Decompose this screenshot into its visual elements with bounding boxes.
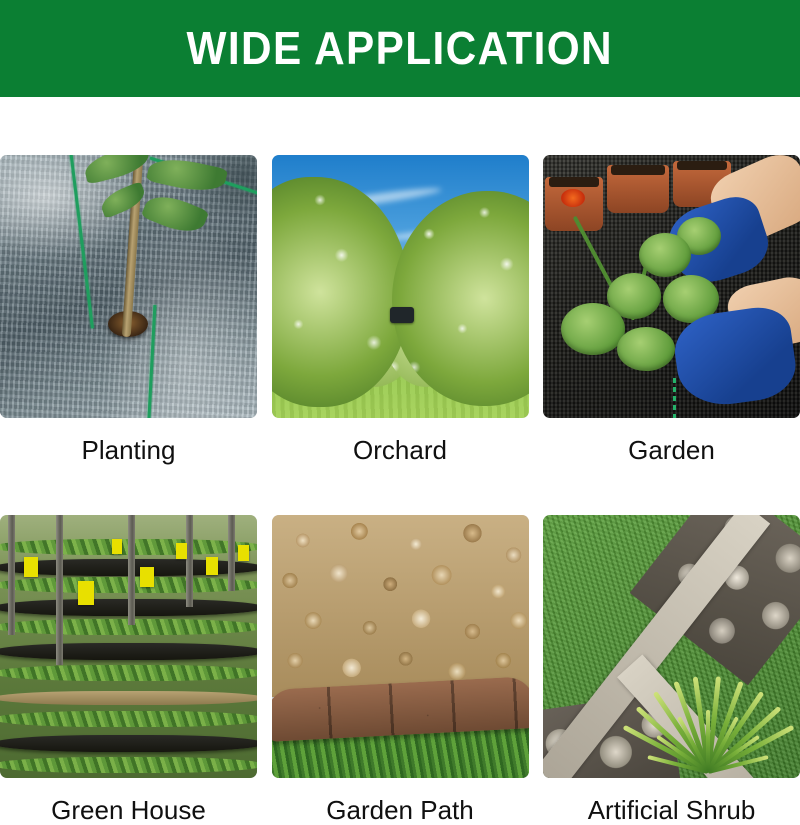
- yellow-sticky-trap: [176, 543, 187, 559]
- planting-scene: [0, 155, 257, 418]
- yellow-sticky-trap: [78, 581, 94, 605]
- gallery-cell-garden[interactable]: Garden: [543, 155, 800, 463]
- support-post: [186, 515, 193, 607]
- crop-row: [0, 757, 257, 773]
- pot-soil: [677, 161, 727, 170]
- spiky-shrub: [620, 588, 800, 778]
- geranium-leaf: [617, 327, 675, 371]
- artificial-shrub-caption: Artificial Shrub: [543, 797, 800, 823]
- support-post: [56, 515, 63, 665]
- gallery-cell-orchard[interactable]: Orchard: [272, 155, 529, 463]
- mulch-film: [0, 643, 257, 660]
- planting-caption: Planting: [0, 437, 257, 463]
- planting-image[interactable]: [0, 155, 257, 418]
- yellow-sticky-trap: [112, 539, 122, 554]
- green-house-scene: [0, 515, 257, 778]
- mulch-film: [0, 735, 257, 752]
- gallery-row: Planting Orchard: [0, 155, 800, 463]
- orchard-vehicle: [390, 307, 414, 323]
- garden-path-caption: Garden Path: [272, 797, 529, 823]
- header-banner: WIDE APPLICATION: [0, 0, 800, 97]
- gallery-cell-garden-path[interactable]: Garden Path: [272, 515, 529, 823]
- yellow-sticky-trap: [206, 557, 218, 575]
- orchard-image[interactable]: [272, 155, 529, 418]
- gallery-cell-artificial-shrub[interactable]: Artificial Shrub: [543, 515, 800, 823]
- garden-image[interactable]: [543, 155, 800, 418]
- application-gallery: Planting Orchard: [0, 155, 800, 823]
- support-post: [8, 515, 15, 635]
- page-title: WIDE APPLICATION: [187, 25, 613, 71]
- yellow-sticky-trap: [238, 545, 249, 561]
- yellow-sticky-trap: [24, 557, 38, 577]
- garden-path-scene: [272, 515, 529, 778]
- garden-caption: Garden: [543, 437, 800, 463]
- pot-soil: [549, 177, 599, 187]
- support-post: [128, 515, 135, 625]
- crop-row: [0, 665, 257, 681]
- orange-flower: [561, 189, 585, 207]
- green-house-caption: Green House: [0, 797, 257, 823]
- soil-row: [0, 691, 257, 705]
- green-stitch-line: [673, 378, 676, 418]
- pebble-gravel-bed: [272, 515, 529, 697]
- geranium-leaf: [639, 233, 691, 277]
- garden-path-image[interactable]: [272, 515, 529, 778]
- artificial-shrub-image[interactable]: [543, 515, 800, 778]
- garden-scene: [543, 155, 800, 418]
- crop-row: [0, 711, 257, 727]
- gallery-cell-green-house[interactable]: Green House: [0, 515, 257, 823]
- artificial-shrub-scene: [543, 515, 800, 778]
- support-post: [228, 515, 235, 591]
- orchard-scene: [272, 155, 529, 418]
- pot-soil: [611, 165, 665, 175]
- gallery-cell-planting[interactable]: Planting: [0, 155, 257, 463]
- orchard-caption: Orchard: [272, 437, 529, 463]
- green-house-image[interactable]: [0, 515, 257, 778]
- gallery-row: Green House Garden Path: [0, 515, 800, 823]
- geranium-leaf: [561, 303, 625, 355]
- yellow-sticky-trap: [140, 567, 154, 587]
